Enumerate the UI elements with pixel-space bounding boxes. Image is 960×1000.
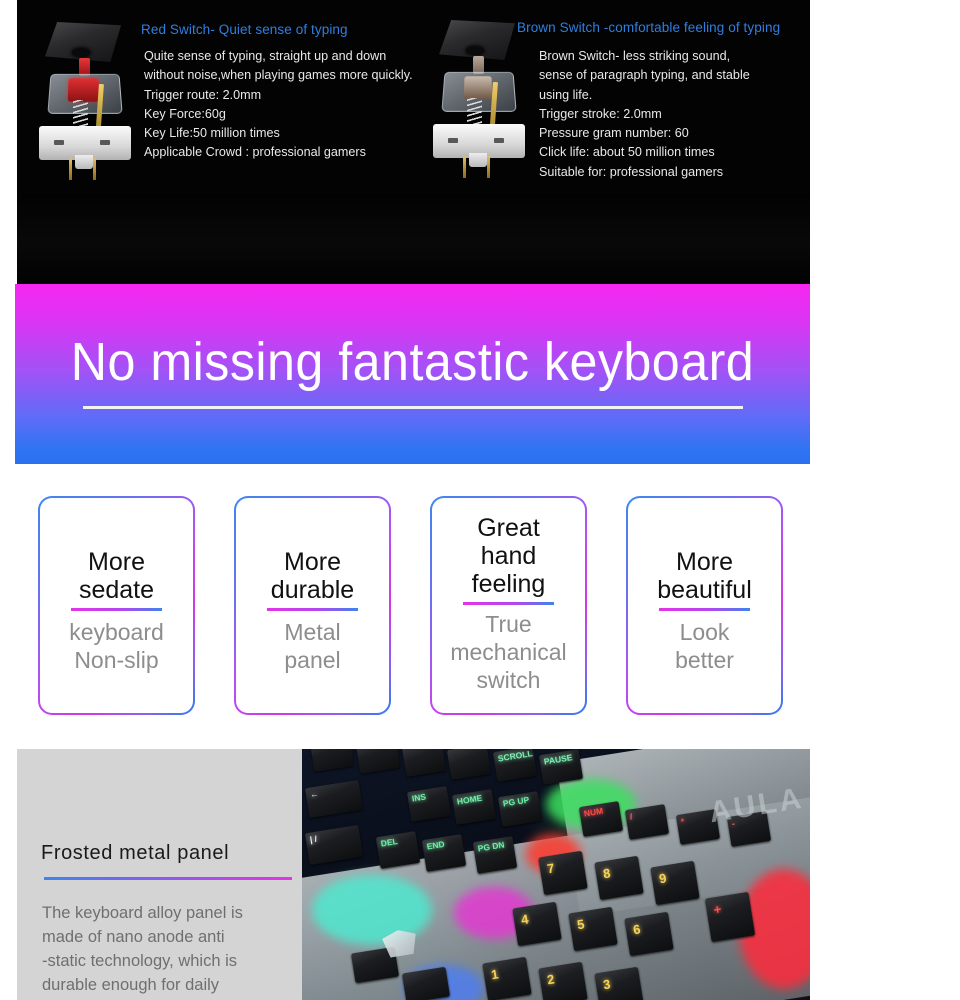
feature-card-title: Moredurable [236,548,389,604]
feature-card-divider [659,608,750,611]
feature-card-title: Moresedate [40,548,193,604]
keycap: ← [305,780,363,818]
keycap: PG DN [472,836,517,874]
switch-slider-shape [68,78,99,101]
red-switch-column: Red Switch- Quiet sense of typing Quite … [17,0,417,284]
feature-card-inner: Moredurable Metalpanel [236,498,389,713]
keycap: END [422,834,467,872]
frosted-panel-divider [44,877,292,880]
keycap: SCROLL [493,749,537,782]
feature-card-subtitle: Metalpanel [236,618,389,674]
keycap: 5 [569,906,618,950]
keycap: 9 [650,861,699,905]
frosted-panel-title: Frosted metal panel [41,842,229,865]
rgb-backlit-mechanical-keyboard-numpad-photo: SCROLL PAUSE ← INS HOME PG UP NUM / * - … [302,749,810,1000]
brown-switch-column: Brown Switch -comfortable feeling of typ… [417,0,810,284]
headline-text: No missing fantastic keyboard [43,331,782,393]
keycap: 8 [594,856,643,900]
switch-base-nub-shape [75,155,93,169]
switch-pin-right [487,156,490,178]
switch-base-slot-left [448,138,458,143]
keycap-shape [45,22,121,62]
feature-card-great-hand-feeling[interactable]: Greathandfeeling Truemechanicalswitch [430,496,587,715]
feature-card-more-sedate[interactable]: Moresedate keyboardNon-slip [38,496,195,715]
keycap [402,967,450,1000]
feature-card-subtitle: Truemechanicalswitch [432,610,585,694]
keycap: 4 [513,901,562,945]
feature-cards-row: Moresedate keyboardNon-slip Moredurable … [0,496,960,716]
keycap: 7 [538,851,587,895]
headline-underline [83,406,743,409]
red-switch-spec-list: Quite sense of typing, straight up and d… [144,47,413,163]
keycap [401,749,445,777]
frosted-panel-description: The keyboard alloy panel ismade of nano … [42,901,294,997]
feature-card-title: Morebeautiful [628,548,781,604]
red-mechanical-switch-exploded-view-icon [31,22,141,182]
feature-card-subtitle: keyboardNon-slip [40,618,193,674]
frosted-panel-section: Frosted metal panel The keyboard alloy p… [17,749,810,1000]
switch-pin-left [463,156,466,178]
keycap [310,749,354,772]
keycap: 1 [482,957,531,1000]
feature-card-divider [71,608,162,611]
switch-pin-left [69,158,72,180]
feature-card-inner: Morebeautiful Lookbetter [628,498,781,713]
keycap: 2 [538,962,587,1000]
switch-base-slot-left [54,140,64,145]
keycap: PG UP [498,791,542,827]
keycap: + [705,891,755,941]
keycap: 6 [624,911,673,955]
keycap: PAUSE [539,749,583,784]
keycap: 3 [594,967,643,1000]
headline-banner: No missing fantastic keyboard [15,284,810,464]
feature-card-divider [463,602,554,605]
feature-card-inner: Moresedate keyboardNon-slip [40,498,193,713]
feature-card-more-durable[interactable]: Moredurable Metalpanel [234,496,391,715]
feature-card-inner: Greathandfeeling Truemechanicalswitch [432,498,585,713]
brown-switch-spec-list: Brown Switch- less striking sound,sense … [539,47,750,182]
feature-card-divider [267,608,358,611]
switch-base-slot-right [100,140,110,145]
brown-mechanical-switch-exploded-view-icon [425,20,535,180]
keycap [356,749,400,774]
keycap-shape [439,20,515,60]
keycap: / [625,804,669,840]
feature-card-subtitle: Lookbetter [628,618,781,674]
red-switch-title: Red Switch- Quiet sense of typing [141,22,348,37]
switch-comparison-section: Red Switch- Quiet sense of typing Quite … [17,0,810,284]
switch-pin-right [93,158,96,180]
keycap: INS [407,786,451,822]
switch-slider-shape [463,76,492,99]
switch-base-nub-shape [469,153,487,167]
frosted-panel-text-pane: Frosted metal panel The keyboard alloy p… [17,749,302,1000]
feature-card-title: Greathandfeeling [432,514,585,598]
switch-base-slot-right [494,138,504,143]
feature-card-more-beautiful[interactable]: Morebeautiful Lookbetter [626,496,783,715]
keycap [447,749,491,779]
keycap: | / [305,825,363,865]
keycap: HOME [452,789,496,825]
brown-switch-title: Brown Switch -comfortable feeling of typ… [517,20,780,35]
keycap: DEL [376,831,421,869]
